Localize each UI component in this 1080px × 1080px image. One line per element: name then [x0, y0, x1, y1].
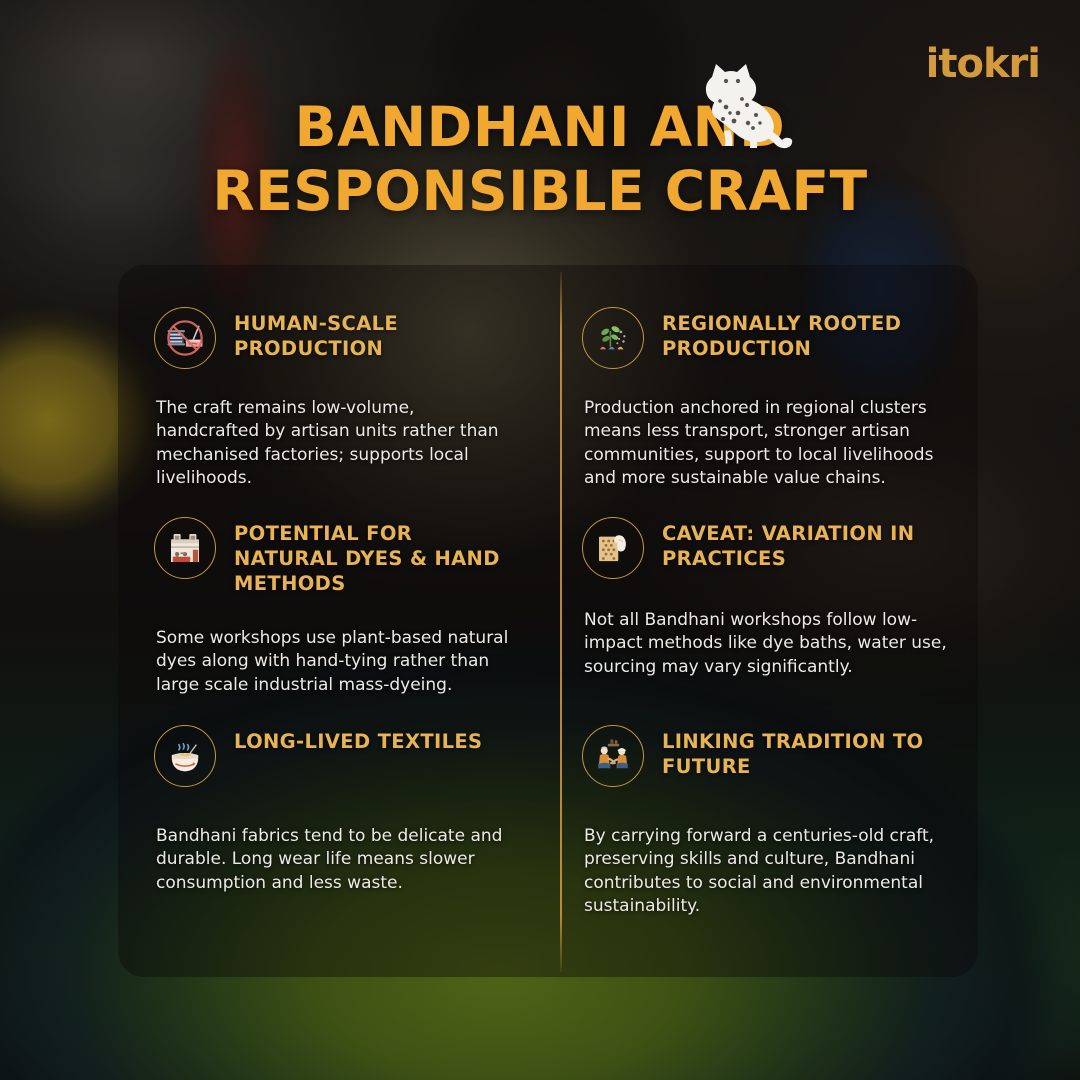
benefit-header: POTENTIAL FOR NATURAL DYES & HAND METHOD…: [154, 515, 522, 597]
benefit-header: HUMAN-SCALE PRODUCTION: [154, 305, 522, 369]
brand-logo-text: itokri: [926, 44, 1040, 84]
hand-holding-fabric-icon: [582, 517, 644, 579]
benefit-body: By carrying forward a centuries-old craf…: [584, 825, 948, 919]
steaming-dye-pot-icon: [154, 725, 216, 787]
benefit-title: CAVEAT: VARIATION IN PRACTICES: [662, 515, 948, 572]
no-factory-machine-icon: [154, 307, 216, 369]
benefit-item-regionally-rooted-production: REGIONALLY ROOTED PRODUCTION Production …: [560, 265, 978, 475]
benefit-body: Bandhani fabrics tend to be delicate and…: [156, 825, 522, 895]
page-title-line-2: RESPONSIBLE CRAFT: [0, 160, 1080, 224]
benefit-title: LINKING TRADITION TO FUTURE: [662, 723, 948, 780]
page-title: BANDHANI AND RESPONSIBLE CRAFT: [0, 96, 1080, 224]
benefit-item-long-lived-textiles: LONG-LIVED TEXTILES Bandhani fabrics ten…: [118, 683, 560, 977]
benefit-item-natural-dyes-hand-methods: POTENTIAL FOR NATURAL DYES & HAND METHOD…: [118, 475, 560, 683]
benefit-title: POTENTIAL FOR NATURAL DYES & HAND METHOD…: [234, 515, 522, 597]
benefit-title: HUMAN-SCALE PRODUCTION: [234, 305, 522, 362]
two-artisans-seated-icon: [582, 725, 644, 787]
brand-logo[interactable]: itokri: [926, 42, 1040, 86]
benefit-header: LONG-LIVED TEXTILES: [154, 723, 522, 787]
infographic-poster: itokri BANDHANI AND RESPONSIBLE CRAFT: [0, 0, 1080, 1080]
page-title-line-1: BANDHANI AND: [0, 96, 1080, 160]
benefit-item-linking-tradition-future: LINKING TRADITION TO FUTURE By carrying …: [560, 683, 978, 977]
benefit-header: LINKING TRADITION TO FUTURE: [582, 723, 948, 787]
benefit-title: REGIONALLY ROOTED PRODUCTION: [662, 305, 948, 362]
benefit-item-caveat-variation: CAVEAT: VARIATION IN PRACTICES Not all B…: [560, 475, 978, 683]
benefit-header: CAVEAT: VARIATION IN PRACTICES: [582, 515, 948, 579]
benefit-body: Not all Bandhani workshops follow low-im…: [584, 609, 948, 679]
benefit-item-human-scale-production: HUMAN-SCALE PRODUCTION The craft remains…: [118, 265, 560, 475]
seedling-plant-icon: [582, 307, 644, 369]
benefit-header: REGIONALLY ROOTED PRODUCTION: [582, 305, 948, 369]
cat-illustration-icon: [690, 55, 802, 150]
workshop-building-icon: [154, 517, 216, 579]
benefit-title: LONG-LIVED TEXTILES: [234, 723, 482, 755]
benefits-grid: HUMAN-SCALE PRODUCTION The craft remains…: [118, 265, 978, 977]
